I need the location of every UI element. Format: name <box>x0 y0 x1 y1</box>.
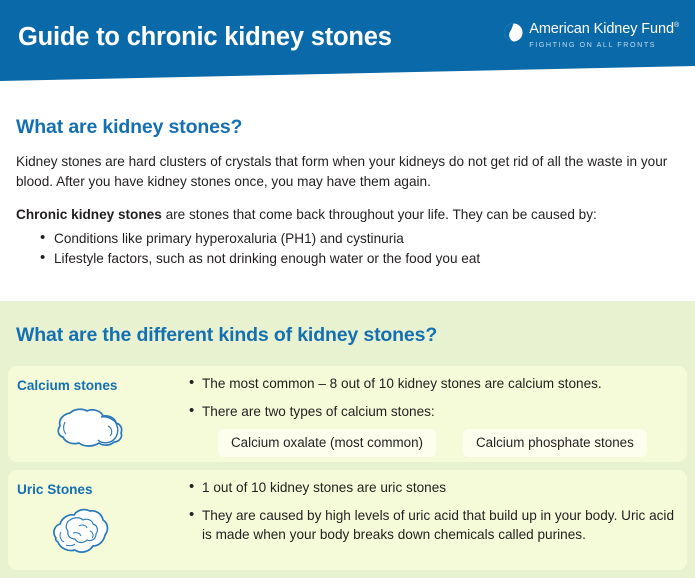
uric-bullet-list: 1 out of 10 kidney stones are uric stone… <box>189 478 677 544</box>
calcium-stone-icon <box>46 404 132 452</box>
logo-name-text: American Kidney Fund <box>529 21 674 37</box>
calcium-stones-label: Calcium stones <box>17 378 117 393</box>
list-item: The most common – 8 out of 10 kidney sto… <box>189 374 677 393</box>
uric-stones-label: Uric Stones <box>17 482 93 497</box>
kinds-heading: What are the different kinds of kidney s… <box>0 301 695 347</box>
calcium-phosphate-pill[interactable]: Calcium phosphate stones <box>463 429 647 457</box>
intro-bullet-list: Conditions like primary hyperoxaluria (P… <box>16 229 679 269</box>
list-item: They are caused by high levels of uric a… <box>189 506 677 544</box>
intro-paragraph-2: Chronic kidney stones are stones that co… <box>16 205 679 225</box>
calcium-type-pills: Calcium oxalate (most common) Calcium ph… <box>218 429 677 457</box>
uric-stones-content: 1 out of 10 kidney stones are uric stone… <box>189 478 677 544</box>
calcium-oxalate-pill[interactable]: Calcium oxalate (most common) <box>218 429 436 457</box>
list-item: There are two types of calcium stones: <box>189 402 677 421</box>
logo-tagline: FIGHTING ON ALL FRONTS <box>529 41 679 48</box>
kinds-of-stones-section: What are the different kinds of kidney s… <box>0 301 695 578</box>
american-kidney-fund-logo: American Kidney Fund® FIGHTING ON ALL FR… <box>504 22 679 48</box>
list-item: Lifestyle factors, such as not drinking … <box>40 249 679 269</box>
uric-stones-card: Uric Stones 1 out of 10 kidney stones ar… <box>8 470 687 570</box>
logo-registered-mark: ® <box>674 22 679 29</box>
intro-paragraph-1: Kidney stones are hard clusters of cryst… <box>16 152 679 192</box>
logo-name: American Kidney Fund® <box>529 22 679 37</box>
chronic-kidney-stones-term: Chronic kidney stones <box>16 207 162 222</box>
calcium-stones-card: Calcium stones The most common – 8 out o… <box>8 366 687 462</box>
logo-text: American Kidney Fund® FIGHTING ON ALL FR… <box>529 22 679 48</box>
list-item: 1 out of 10 kidney stones are uric stone… <box>189 478 677 497</box>
chronic-kidney-stones-desc: are stones that come back throughout you… <box>162 207 597 222</box>
intro-section: What are kidney stones? Kidney stones ar… <box>0 116 695 269</box>
intro-heading: What are kidney stones? <box>16 116 679 139</box>
kidney-circle-logo-mark-icon <box>504 23 523 42</box>
calcium-stones-content: The most common – 8 out of 10 kidney sto… <box>189 374 677 457</box>
page-title: Guide to chronic kidney stones <box>18 23 392 52</box>
page-header: Guide to chronic kidney stones American … <box>0 0 695 88</box>
list-item: Conditions like primary hyperoxaluria (P… <box>40 229 679 249</box>
calcium-bullet-list: The most common – 8 out of 10 kidney sto… <box>189 374 677 421</box>
uric-stone-icon <box>46 502 120 564</box>
